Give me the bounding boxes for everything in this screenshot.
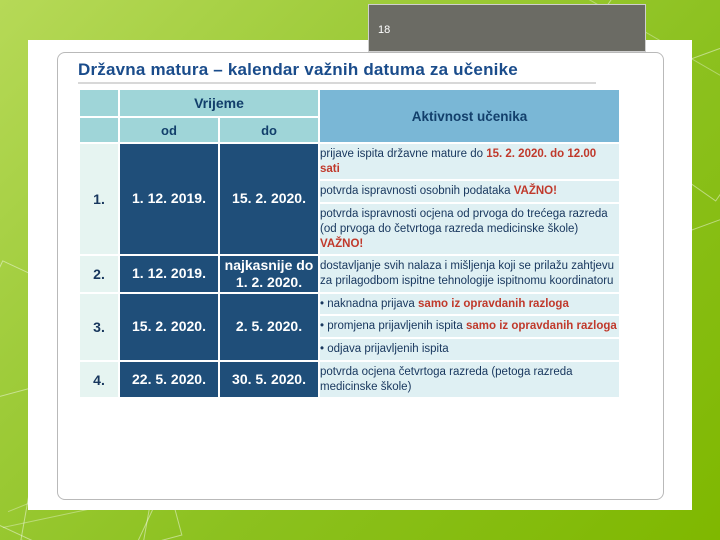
table-row: 1.1. 12. 2019.15. 2. 2020.prijave ispita… [79,143,620,255]
header-aktivnost: Aktivnost učenika [319,89,620,143]
slide-number-band [368,4,646,52]
date-to: 30. 5. 2020. [219,361,319,398]
activity-text: • promjena prijavljenih ispita [320,320,466,332]
highlighted-text: samo iz opravdanih razloga [418,298,569,310]
row-number: 4. [79,361,119,398]
header-corner-blank [79,89,119,117]
activity-cell: dostavljanje svih nalaza i mišljenja koj… [319,255,620,292]
date-from: 15. 2. 2020. [119,293,219,361]
activity-item: prijave ispita državne mature do 15. 2. … [320,144,619,179]
table-row: 2.1. 12. 2019.najkasnije do1. 2. 2020.do… [79,255,620,292]
date-from: 1. 12. 2019. [119,255,219,292]
table-header: Vrijeme Aktivnost učenika od do [79,89,620,143]
activity-text: potvrda ocjena četvrtoga razreda (petoga… [320,366,573,393]
activity-item: potvrda ocjena četvrtoga razreda (petoga… [320,362,619,397]
row-number: 2. [79,255,119,292]
highlighted-text: VAŽNO! [320,238,363,250]
table-row: 4.22. 5. 2020.30. 5. 2020.potvrda ocjena… [79,361,620,398]
activity-item: potvrda ispravnosti ocjena od prvoga do … [320,202,619,254]
highlighted-text: samo iz opravdanih razloga [466,320,617,332]
activity-item: • odjava prijavljenih ispita [320,337,619,360]
activity-text: potvrda ispravnosti osobnih podataka [320,185,514,197]
activity-cell: • naknadna prijava samo iz opravdanih ra… [319,293,620,361]
date-to: 2. 5. 2020. [219,293,319,361]
date-to: najkasnije do1. 2. 2020. [219,255,319,292]
activity-text: dostavljanje svih nalaza i mišljenja koj… [320,260,614,287]
highlighted-text: VAŽNO! [514,185,557,197]
table-header-row-top: Vrijeme Aktivnost učenika [79,89,620,117]
activity-item: dostavljanje svih nalaza i mišljenja koj… [320,256,619,291]
date-from: 22. 5. 2020. [119,361,219,398]
table-row: 3.15. 2. 2020.2. 5. 2020.• naknadna prij… [79,293,620,361]
header-sub-blank [79,117,119,143]
page-title: Državna matura – kalendar važnih datuma … [78,60,638,80]
activity-item: • naknadna prijava samo iz opravdanih ra… [320,294,619,315]
date-to: 15. 2. 2020. [219,143,319,255]
activity-text: potvrda ispravnosti ocjena od prvoga do … [320,208,608,235]
activity-item: • promjena prijavljenih ispita samo iz o… [320,314,619,337]
matura-calendar-table: Vrijeme Aktivnost učenika od do 1.1. 12.… [78,88,621,399]
activity-text: • naknadna prijava [320,298,418,310]
activity-text: • odjava prijavljenih ispita [320,343,449,355]
activity-cell: potvrda ocjena četvrtoga razreda (petoga… [319,361,620,398]
row-number: 1. [79,143,119,255]
slide-number: 18 [378,24,390,36]
activity-cell: prijave ispita državne mature do 15. 2. … [319,143,620,255]
activity-text: prijave ispita državne mature do [320,148,486,160]
activity-item: potvrda ispravnosti osobnih podataka VAŽ… [320,179,619,202]
header-od: od [119,117,219,143]
title-divider [78,82,596,84]
row-number: 3. [79,293,119,361]
header-vrijeme: Vrijeme [119,89,319,117]
table-body: 1.1. 12. 2019.15. 2. 2020.prijave ispita… [79,143,620,398]
date-from: 1. 12. 2019. [119,143,219,255]
header-do: do [219,117,319,143]
